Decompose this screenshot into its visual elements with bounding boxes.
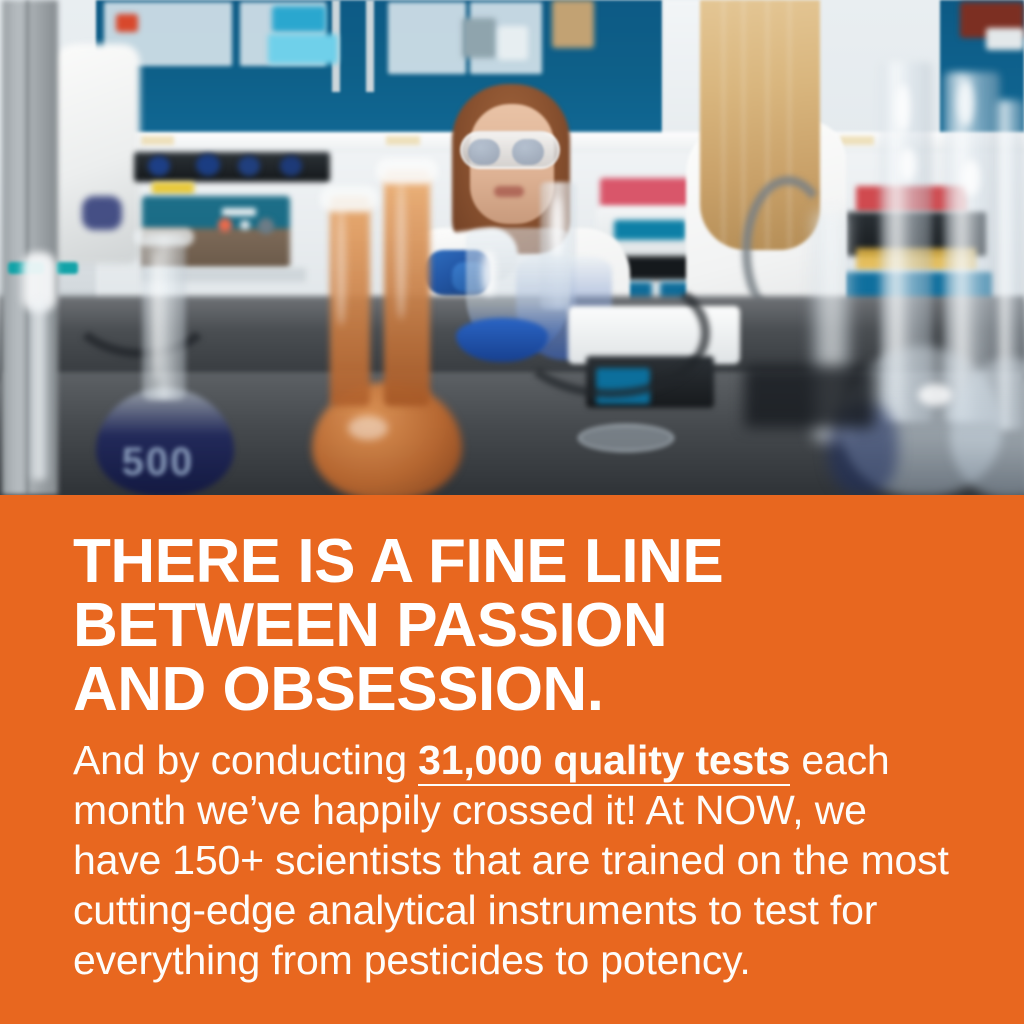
glass-highlight — [336, 206, 346, 326]
instrument-knob — [258, 218, 274, 234]
glass-highlight — [958, 80, 974, 126]
goggle-lens-left — [468, 139, 500, 165]
glass-highlight — [900, 148, 916, 182]
instrument-button — [240, 220, 250, 230]
page-title: THERE IS A FINE LINE BETWEEN PASSION AND… — [73, 530, 973, 722]
body-paragraph: And by conducting 31,000 quality tests e… — [73, 735, 953, 985]
equipment-teal-label — [614, 220, 686, 240]
shelf-item — [268, 34, 338, 64]
instrument-vial — [280, 156, 302, 176]
lab-photo: 500 — [0, 0, 1024, 495]
social-post-card: 500 THERE IS A FINE LINE BETWEEN PASSION… — [0, 0, 1024, 1024]
shelf-item — [986, 28, 1024, 50]
instrument-indicator — [218, 218, 232, 232]
instrument-display — [222, 208, 256, 216]
glass-highlight — [918, 384, 952, 406]
volumetric-flask-neck — [142, 234, 186, 400]
glass-highlight — [396, 180, 406, 320]
flask-volume-label: 500 — [110, 440, 206, 482]
amber-stopper — [376, 158, 438, 184]
glass-highlight — [962, 160, 980, 196]
shelf-item — [116, 14, 138, 32]
ledge-tab — [140, 136, 174, 145]
petri-dish — [578, 424, 674, 452]
instrument-vial — [148, 156, 170, 176]
bench-equipment-dark — [744, 366, 874, 428]
post-seam — [26, 0, 29, 495]
glass-highlight — [348, 416, 388, 440]
amber-stopper — [320, 186, 378, 212]
center-scientist-mouth — [494, 186, 524, 197]
instrument-vial — [196, 154, 220, 176]
volumetric-flask-lip — [134, 228, 194, 246]
body-lead-text: And by conducting — [73, 737, 418, 783]
glass-highlight — [552, 196, 562, 256]
stat-emphasis-tests: 31,000 quality tests — [418, 737, 790, 786]
equipment-red-panel — [600, 178, 700, 208]
left-scientist-coat — [48, 44, 140, 264]
pipette-stem — [30, 300, 48, 480]
shelf-item — [498, 26, 528, 60]
left-scientist-glove — [82, 196, 122, 230]
teal-marker-band — [56, 262, 78, 274]
instrument-vial — [238, 156, 260, 176]
amber-cylinder — [384, 170, 430, 406]
cabinet-pane — [388, 2, 466, 74]
shelf-item — [272, 6, 326, 32]
glass-highlight — [896, 84, 910, 132]
goggle-lens-right — [512, 139, 544, 165]
ledge-tab — [386, 136, 420, 145]
shelf-item — [462, 18, 496, 58]
instrument-label — [152, 182, 194, 194]
cabinet-mullion — [366, 0, 374, 92]
glass-highlight — [152, 250, 162, 380]
bench-hose — [510, 268, 710, 398]
ledge-tab — [840, 136, 874, 145]
glass-highlight — [482, 250, 496, 296]
shelf-item — [552, 0, 594, 48]
